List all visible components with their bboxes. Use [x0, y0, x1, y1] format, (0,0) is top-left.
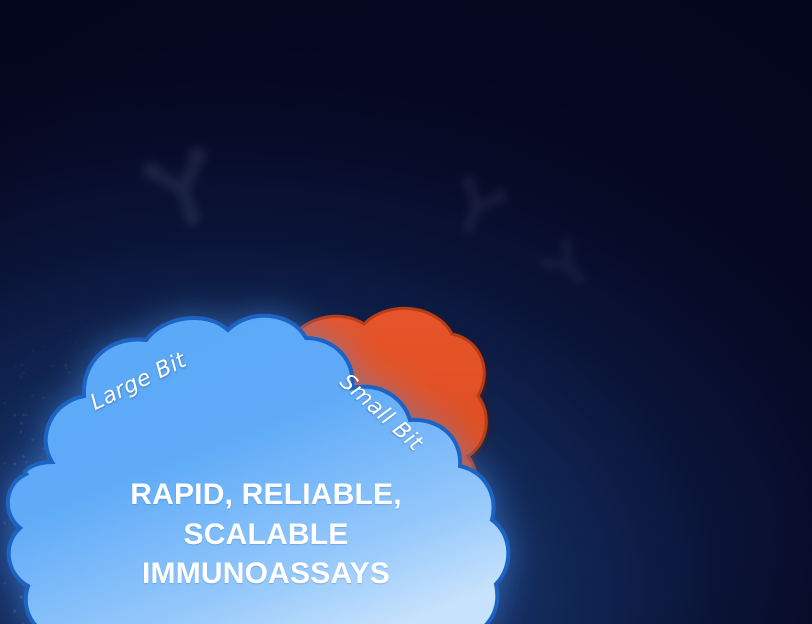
- promo-banner: Large Bit Small Bit RAPID, RELIABLE, SCA…: [0, 0, 812, 624]
- headline-line-1: RAPID, RELIABLE,: [56, 475, 476, 515]
- headline-line-3: IMMUNOASSAYS: [56, 554, 476, 594]
- headline-line-2: SCALABLE: [56, 515, 476, 555]
- headline: RAPID, RELIABLE, SCALABLE IMMUNOASSAYS: [56, 475, 476, 594]
